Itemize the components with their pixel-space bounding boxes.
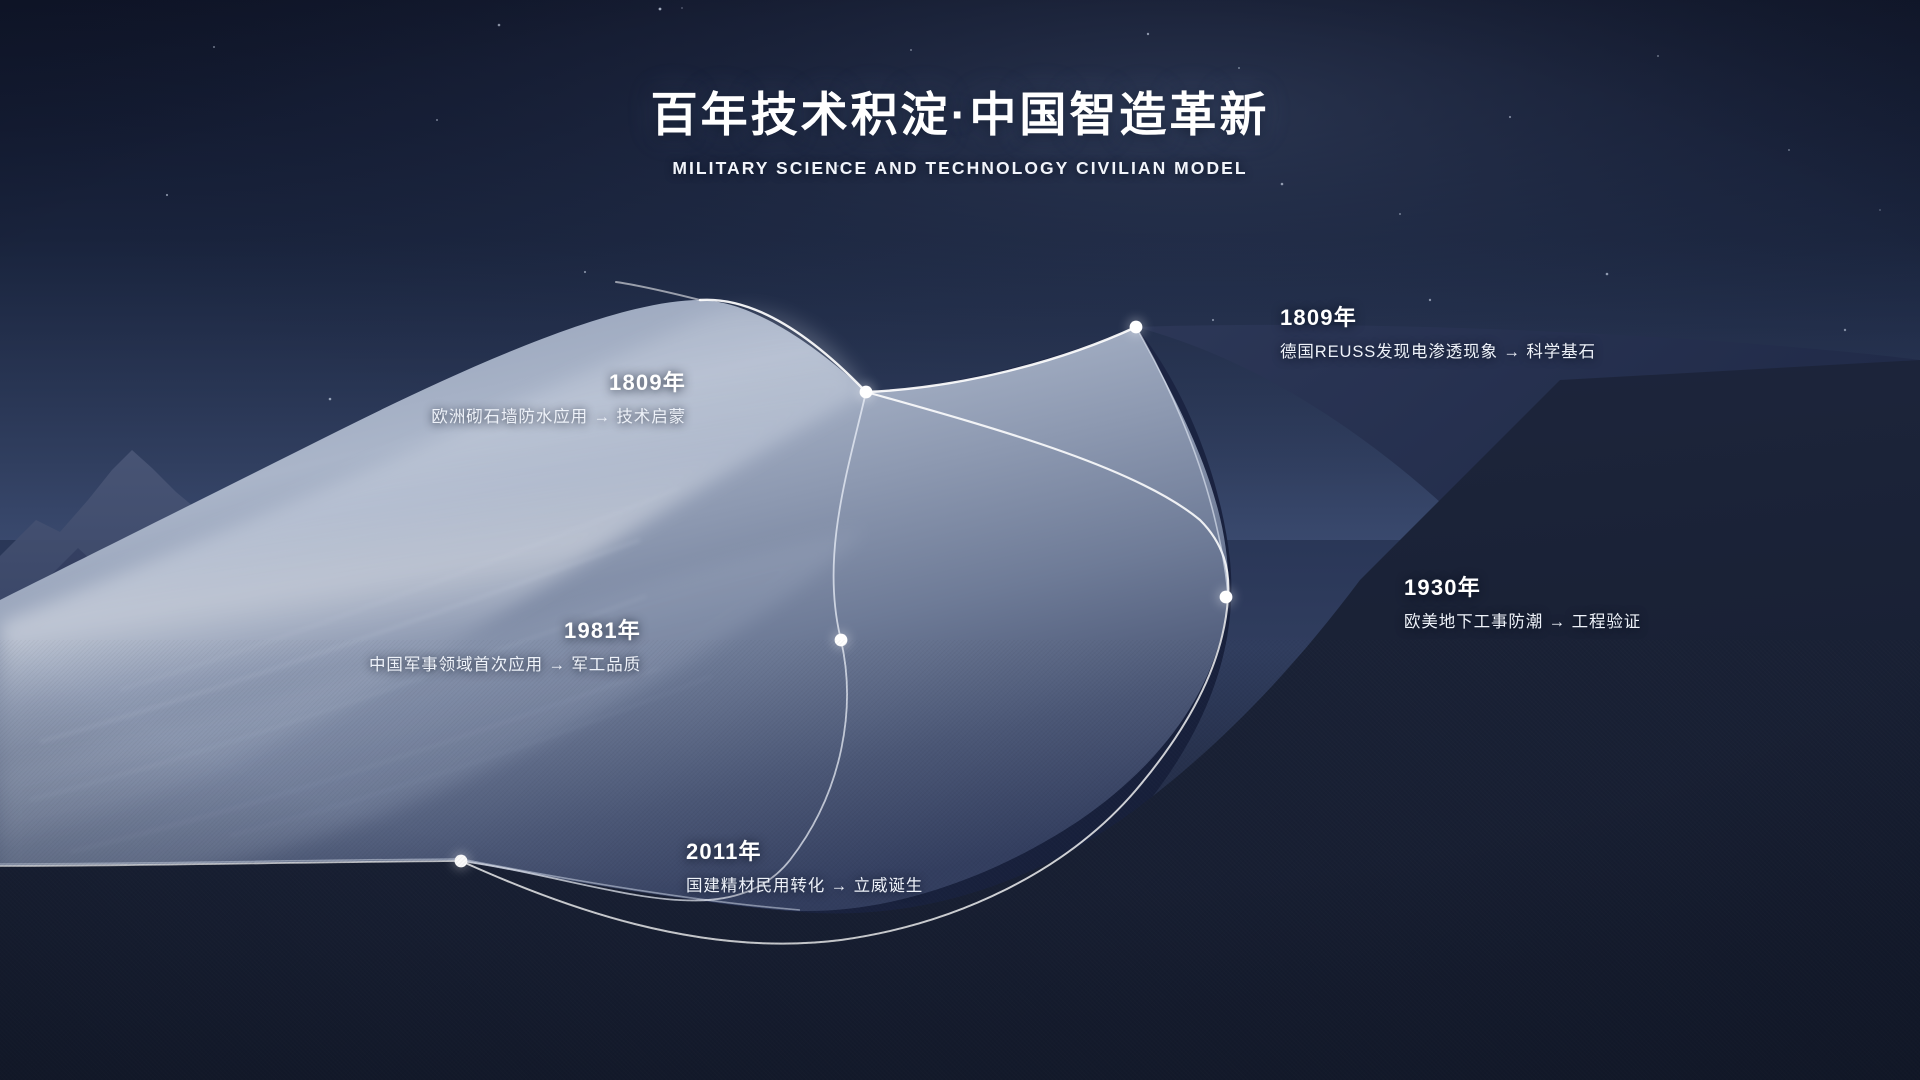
- milestone-dots: [452, 318, 1235, 870]
- milestone-dot-m1930[interactable]: [1220, 591, 1233, 604]
- milestone-dot-m1981[interactable]: [835, 634, 848, 647]
- milestone-dot-m1809-europe[interactable]: [860, 386, 873, 399]
- milestone-connectors: [461, 327, 1390, 861]
- timeline-overlay: [0, 0, 1920, 1080]
- milestone-dot-m1809-reuss[interactable]: [1130, 321, 1143, 334]
- milestone-dot-m2011[interactable]: [455, 855, 468, 868]
- hero-banner: 百年技术积淀·中国智造革新 MILITARY SCIENCE AND TECHN…: [0, 0, 1920, 1080]
- dune-ridge-highlight: [0, 282, 1228, 944]
